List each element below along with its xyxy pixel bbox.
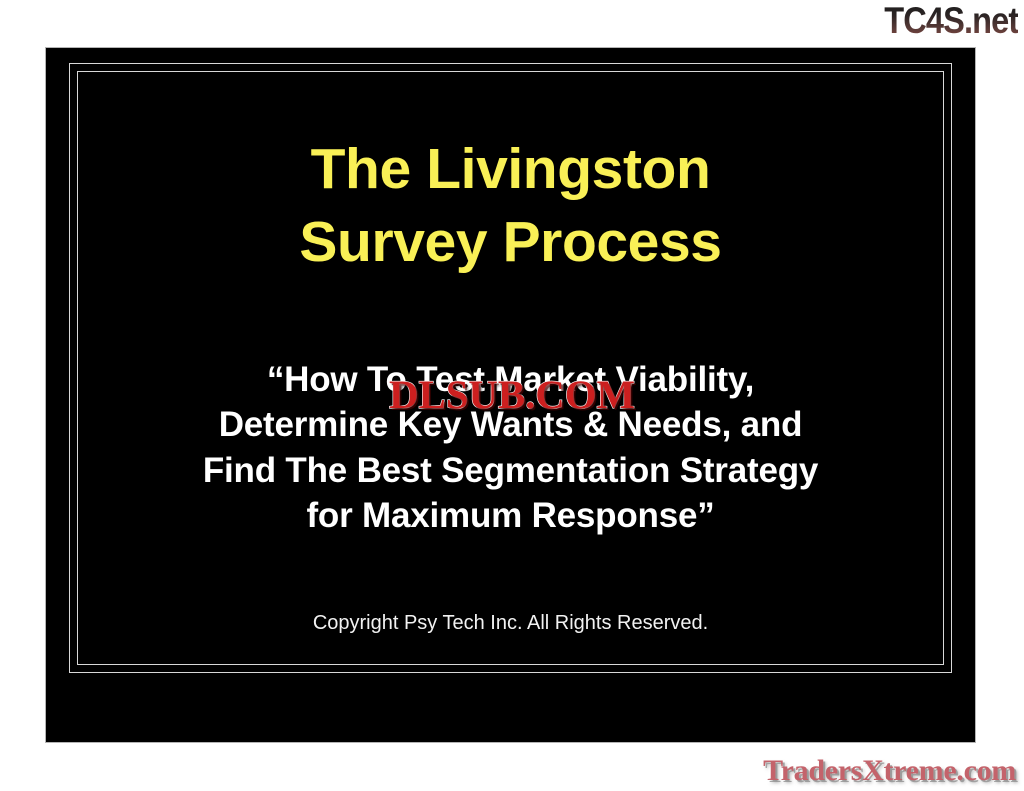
watermark-tc4s-net: TC4S.net	[884, 1, 1018, 41]
watermark-dlsub-com: DLSUB.COM	[389, 373, 635, 417]
watermark-tradersxtreme-com: TradersXtreme.com	[763, 754, 1016, 788]
slide-title: The Livingston Survey Process	[299, 133, 721, 279]
slide-copyright-notice: Copyright Psy Tech Inc. All Rights Reser…	[313, 611, 708, 635]
slide-content: The Livingston Survey Process “How To Te…	[86, 63, 935, 673]
